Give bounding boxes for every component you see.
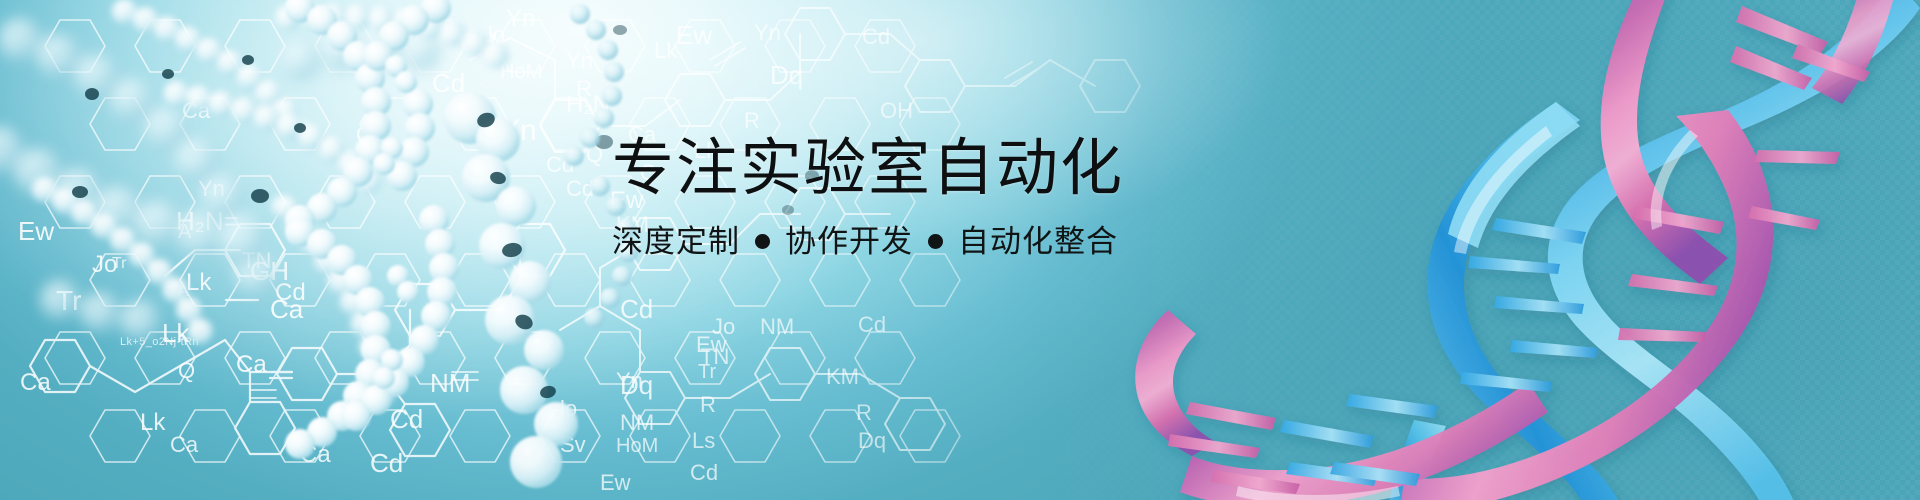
subtitle-item-3: 自动化整合	[958, 226, 1118, 257]
hero-copy-block: 专注实验室自动化 深度定制 协作开发 自动化整合	[612, 138, 1372, 257]
bullet-separator-icon	[755, 234, 770, 249]
bullet-separator-icon	[928, 234, 943, 249]
subtitle-item-2: 协作开发	[785, 226, 913, 257]
subtitle-item-1: 深度定制	[612, 226, 740, 257]
page-title: 专注实验室自动化	[612, 138, 1372, 200]
hero-banner: Tr Lk+5_o2Nj-tRn Lk Lk Jo Tr A A Q Ca Ca…	[0, 0, 1920, 500]
subtitle-row: 深度定制 协作开发 自动化整合	[612, 226, 1372, 257]
